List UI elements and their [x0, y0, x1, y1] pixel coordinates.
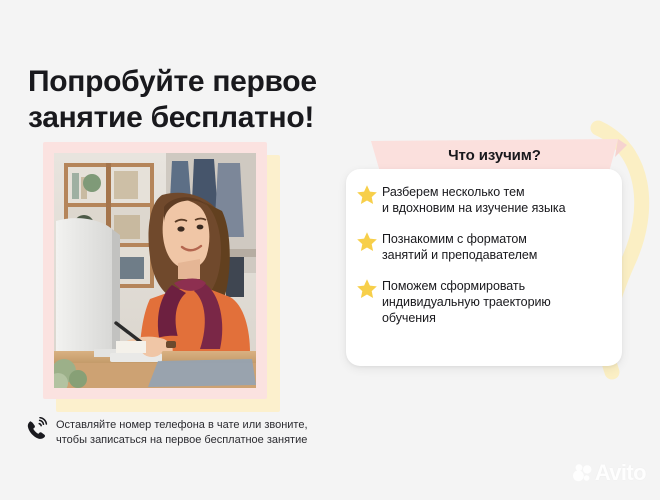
- benefit-line-2: индивидуальную траекторию: [382, 295, 551, 309]
- contact-caption: Оставляйте номер телефона в чате или зво…: [24, 415, 308, 447]
- photo-frame-pink: [43, 142, 267, 399]
- benefit-text: Познакомим с форматом занятий и преподав…: [382, 229, 537, 263]
- star-icon: [355, 277, 379, 301]
- benefit-line-2: и вдохновим на изучение языка: [382, 201, 566, 215]
- benefit-text: Поможем сформировать индивидуальную трае…: [382, 276, 551, 326]
- headline-line-2: занятие бесплатно!: [28, 100, 448, 136]
- benefit-line-3: обучения: [382, 311, 436, 325]
- benefit-text: Разберем несколько тем и вдохновим на из…: [382, 182, 566, 216]
- avito-watermark: Avito: [572, 460, 646, 486]
- avito-dots-logo: [572, 463, 592, 483]
- benefits-card: Разберем несколько тем и вдохновим на из…: [346, 169, 622, 366]
- list-item: Поможем сформировать индивидуальную трае…: [355, 276, 612, 326]
- caption-line-2: чтобы записаться на первое бесплатное за…: [56, 433, 308, 448]
- headline-line-1: Попробуйте первое: [28, 65, 317, 98]
- student-photo: [54, 153, 256, 388]
- promo-banner: Попробуйте первое занятие бесплатно!: [0, 0, 660, 500]
- avito-wordmark: Avito: [595, 460, 646, 486]
- caption-text: Оставляйте номер телефона в чате или зво…: [56, 415, 308, 447]
- phone-ringing-icon: [24, 417, 50, 443]
- caption-line-1: Оставляйте номер телефона в чате или зво…: [56, 419, 308, 431]
- benefit-line-1: Познакомим с форматом: [382, 232, 527, 246]
- star-icon: [355, 230, 379, 254]
- ribbon-title: Что изучим?: [371, 139, 618, 172]
- list-item: Разберем несколько тем и вдохновим на из…: [355, 182, 612, 216]
- benefits-list: Разберем несколько тем и вдохновим на из…: [355, 182, 612, 326]
- benefit-line-1: Разберем несколько тем: [382, 185, 525, 199]
- benefit-line-1: Поможем сформировать: [382, 279, 525, 293]
- list-item: Познакомим с форматом занятий и преподав…: [355, 229, 612, 263]
- star-icon: [355, 183, 379, 207]
- benefit-line-2: занятий и преподавателем: [382, 248, 537, 262]
- page-title: Попробуйте первое занятие бесплатно!: [28, 64, 448, 136]
